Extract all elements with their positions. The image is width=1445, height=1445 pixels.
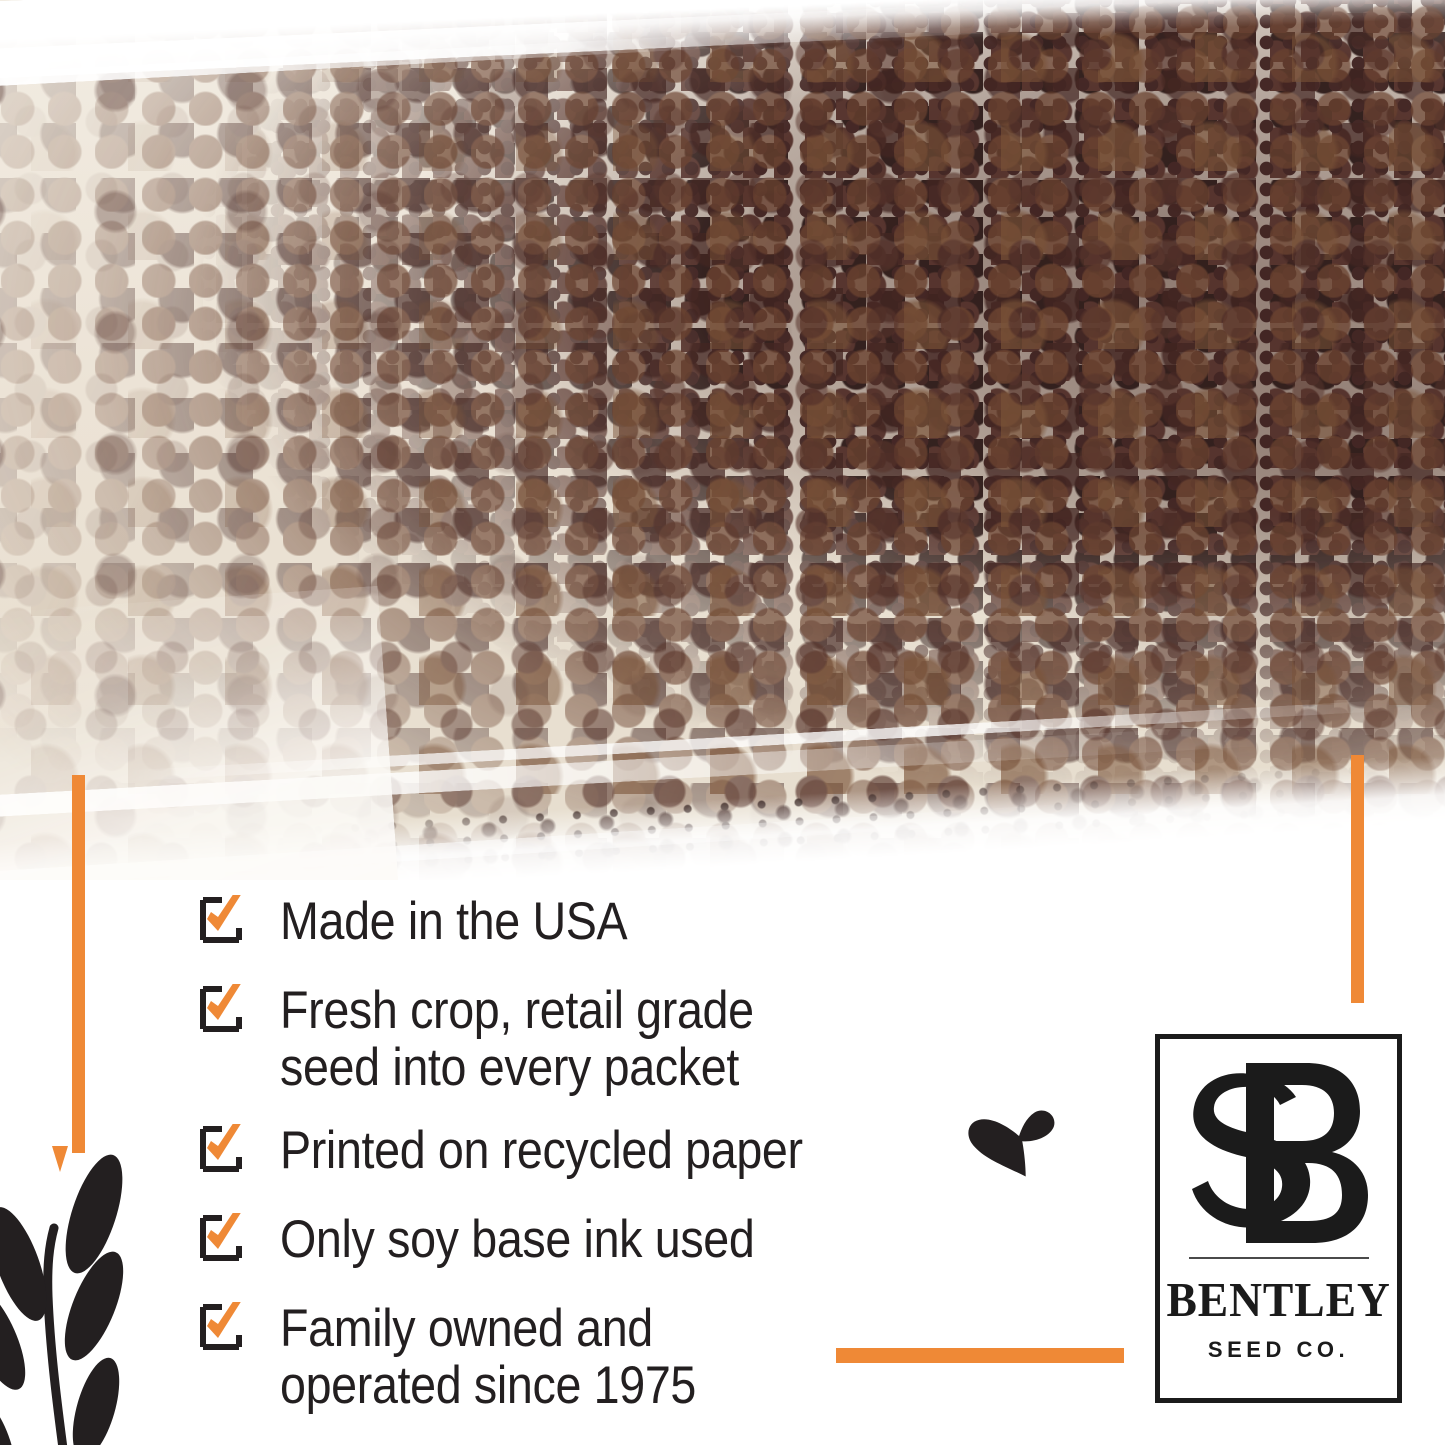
checkbox-checked-icon (196, 895, 246, 945)
checkbox-checked-icon (196, 1213, 246, 1263)
list-item-label: Printed on recycled paper (280, 1122, 803, 1179)
hand-drawn-heart-icon (960, 1096, 1070, 1188)
sb-monogram-icon (1184, 1055, 1374, 1251)
logo-divider (1189, 1257, 1369, 1259)
orange-horizontal-rule-bottom (836, 1348, 1124, 1363)
logo-brand-name: BENTLEY (1166, 1275, 1390, 1325)
list-item-label: Made in the USA (280, 893, 627, 950)
orange-vertical-rule-right (1351, 755, 1364, 1003)
product-feature-panel: Made in the USA Fresh crop, retail grade… (0, 0, 1445, 1445)
list-item: Only soy base ink used (196, 1211, 819, 1268)
logo-tagline: SEED CO. (1208, 1337, 1349, 1363)
list-item: Fresh crop, retail grade seed into every… (196, 982, 818, 1096)
leaf-branch-icon (0, 1146, 186, 1445)
list-item: Family owned and operated since 1975 (196, 1300, 753, 1414)
list-item: Made in the USA (196, 893, 675, 950)
list-item: Printed on recycled paper (196, 1122, 874, 1179)
seed-texture-layer-4 (0, 0, 1445, 880)
list-item-label: Family owned and operated since 1975 (280, 1300, 696, 1414)
seed-photograph (0, 0, 1445, 880)
list-item-label: Only soy base ink used (280, 1211, 754, 1268)
bentley-seed-co-logo: BENTLEY SEED CO. (1155, 1034, 1402, 1403)
orange-vertical-rule-left (72, 775, 85, 1153)
list-item-label: Fresh crop, retail grade seed into every… (280, 982, 754, 1096)
checkbox-checked-icon (196, 1124, 246, 1174)
checkbox-checked-icon (196, 1302, 246, 1352)
checkbox-checked-icon (196, 984, 246, 1034)
